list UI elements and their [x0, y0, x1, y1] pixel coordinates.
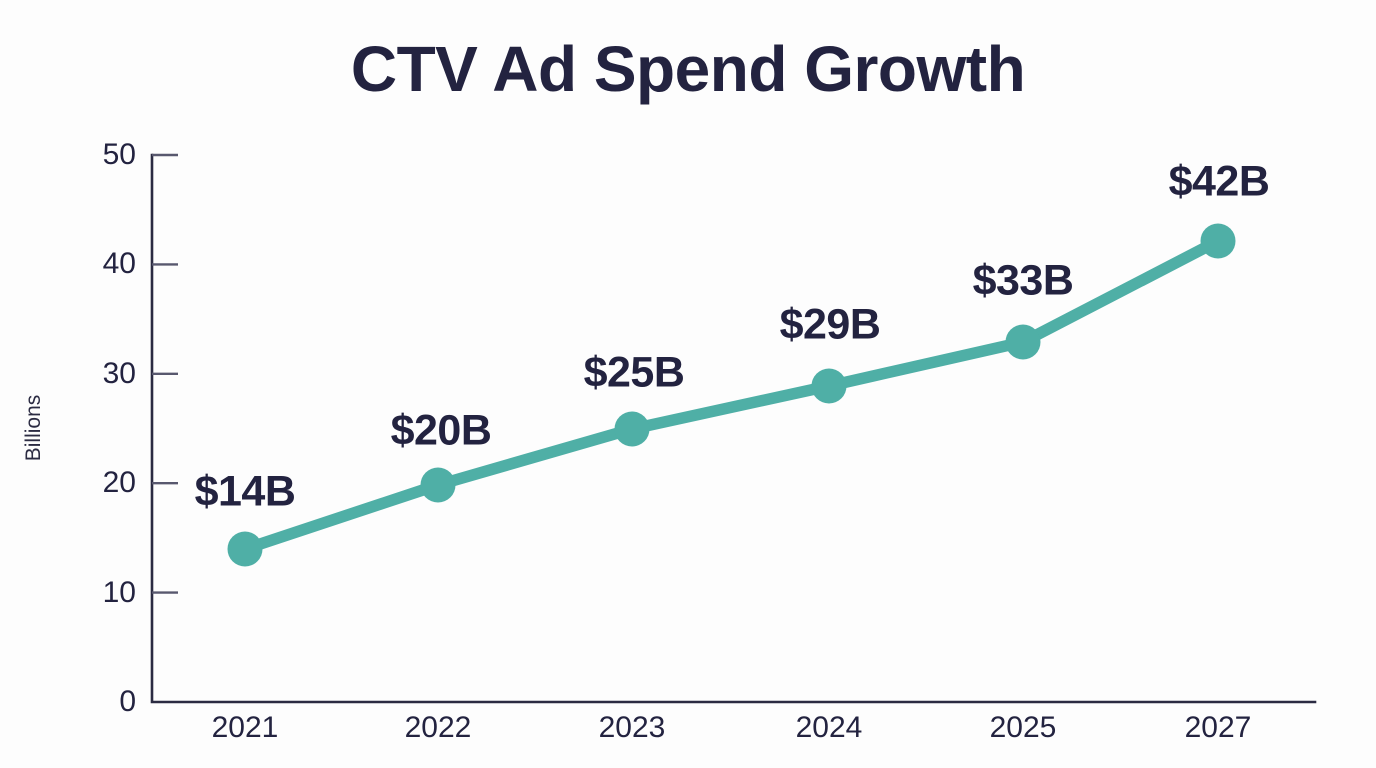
- data-label-2023: $25B: [584, 349, 685, 398]
- data-label-2025: $33B: [973, 257, 1074, 306]
- data-label-2021: $14B: [195, 468, 296, 517]
- data-label-2027: $42B: [1169, 158, 1270, 207]
- data-label-2024: $29B: [780, 301, 881, 350]
- data-label-2022: $20B: [391, 407, 492, 456]
- chart-container: CTV Ad Spend Growth 50 40 30 20 10: [0, 0, 1376, 768]
- data-point-labels: $14B $20B $25B $29B $33B $42B: [0, 0, 1376, 768]
